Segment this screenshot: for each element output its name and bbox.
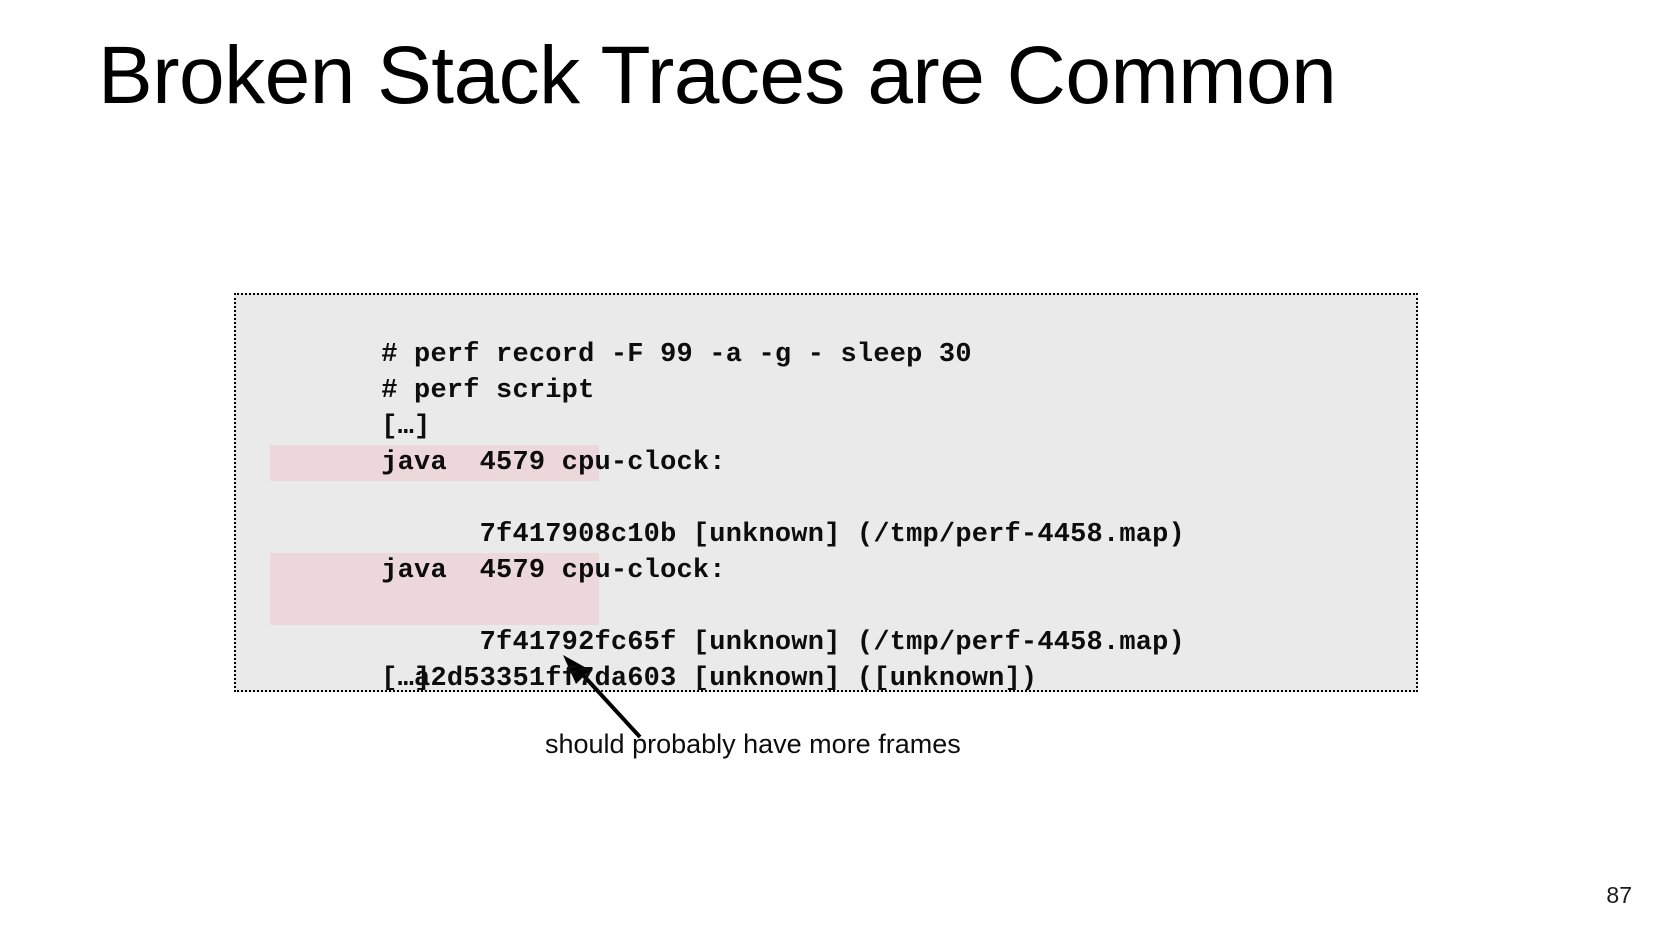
code-line-text: […] <box>381 664 430 692</box>
code-line-text: java 4579 cpu-clock: <box>381 448 725 478</box>
code-line-text: 7f417908c10b [unknown] (/tmp/perf-4458.m… <box>381 520 1185 550</box>
code-line-text: # perf record -F 99 -a -g - sleep 30 <box>381 340 972 370</box>
slide-canvas: Broken Stack Traces are Common # perf re… <box>0 0 1654 931</box>
code-line-highlighted: a2d53351ff7da603 [unknown] ([unknown]) <box>236 589 1416 625</box>
code-line-text: # perf script <box>381 376 594 406</box>
code-line-text: […] <box>381 412 430 442</box>
address-highlight <box>270 589 599 625</box>
page-title: Broken Stack Traces are Common <box>98 32 1336 121</box>
code-block: # perf record -F 99 -a -g - sleep 30 # p… <box>234 293 1418 692</box>
code-line: # perf record -F 99 -a -g - sleep 30 <box>236 301 1416 337</box>
annotation-label: should probably have more frames <box>545 729 961 760</box>
code-line-text: java 4579 cpu-clock: <box>381 556 725 586</box>
code-lines: # perf record -F 99 -a -g - sleep 30 # p… <box>236 295 1416 661</box>
slide-number: 87 <box>1606 882 1632 909</box>
code-line-text: a2d53351ff7da603 [unknown] ([unknown]) <box>381 664 1037 692</box>
code-line-text: 7f41792fc65f [unknown] (/tmp/perf-4458.m… <box>381 628 1185 658</box>
code-line-blank <box>236 481 1416 517</box>
